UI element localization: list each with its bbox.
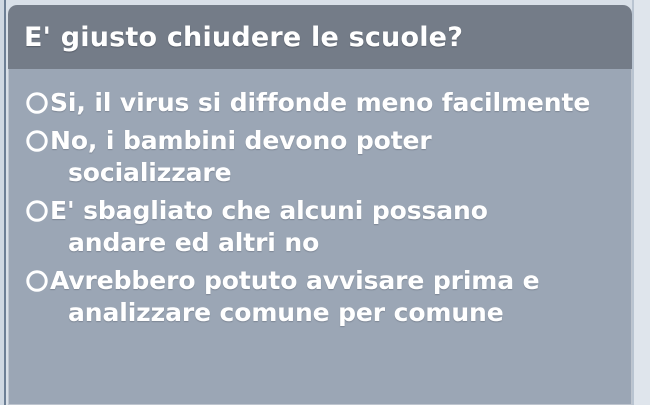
poll-option-1-label: Si, il virus si diffonde meno facilmente xyxy=(50,87,590,119)
radio-unchecked-icon[interactable] xyxy=(25,129,49,153)
poll-option-3-line1: E' sbagliato che alcuni possano xyxy=(50,196,488,225)
radio-unchecked-icon[interactable] xyxy=(25,199,49,223)
poll-option-2-line2: socializzare xyxy=(50,157,432,189)
poll-option-4-line2: analizzare comune per comune xyxy=(50,297,540,329)
poll-option-1[interactable]: Si, il virus si diffonde meno facilmente xyxy=(8,87,632,119)
page-right-margin xyxy=(634,0,650,405)
radio-unchecked-icon[interactable] xyxy=(25,91,49,115)
poll-question-title: E' giusto chiudere le scuole? xyxy=(8,24,463,51)
poll-option-4-label: Avrebbero potuto avvisare prima e analiz… xyxy=(50,265,540,329)
poll-option-2-line1: No, i bambini devono poter xyxy=(50,126,432,155)
poll-option-2[interactable]: No, i bambini devono poter socializzare xyxy=(8,125,632,189)
poll-card: E' giusto chiudere le scuole? Si, il vir… xyxy=(8,5,632,405)
right-edge-rule xyxy=(632,0,634,405)
radio-unchecked-icon[interactable] xyxy=(25,269,49,293)
poll-option-1-line1: Si, il virus si diffonde meno facilmente xyxy=(50,88,590,117)
poll-options-list: Si, il virus si diffonde meno facilmente… xyxy=(8,69,632,405)
poll-option-3-label: E' sbagliato che alcuni possano andare e… xyxy=(50,195,488,259)
poll-option-4[interactable]: Avrebbero potuto avvisare prima e analiz… xyxy=(8,265,632,329)
poll-header: E' giusto chiudere le scuole? xyxy=(8,5,632,69)
left-edge-rule xyxy=(4,0,6,405)
poll-widget: E' giusto chiudere le scuole? Si, il vir… xyxy=(0,0,650,405)
poll-option-4-line1: Avrebbero potuto avvisare prima e xyxy=(50,266,540,295)
poll-option-2-label: No, i bambini devono poter socializzare xyxy=(50,125,432,189)
poll-option-3-line2: andare ed altri no xyxy=(50,227,488,259)
poll-option-3[interactable]: E' sbagliato che alcuni possano andare e… xyxy=(8,195,632,259)
